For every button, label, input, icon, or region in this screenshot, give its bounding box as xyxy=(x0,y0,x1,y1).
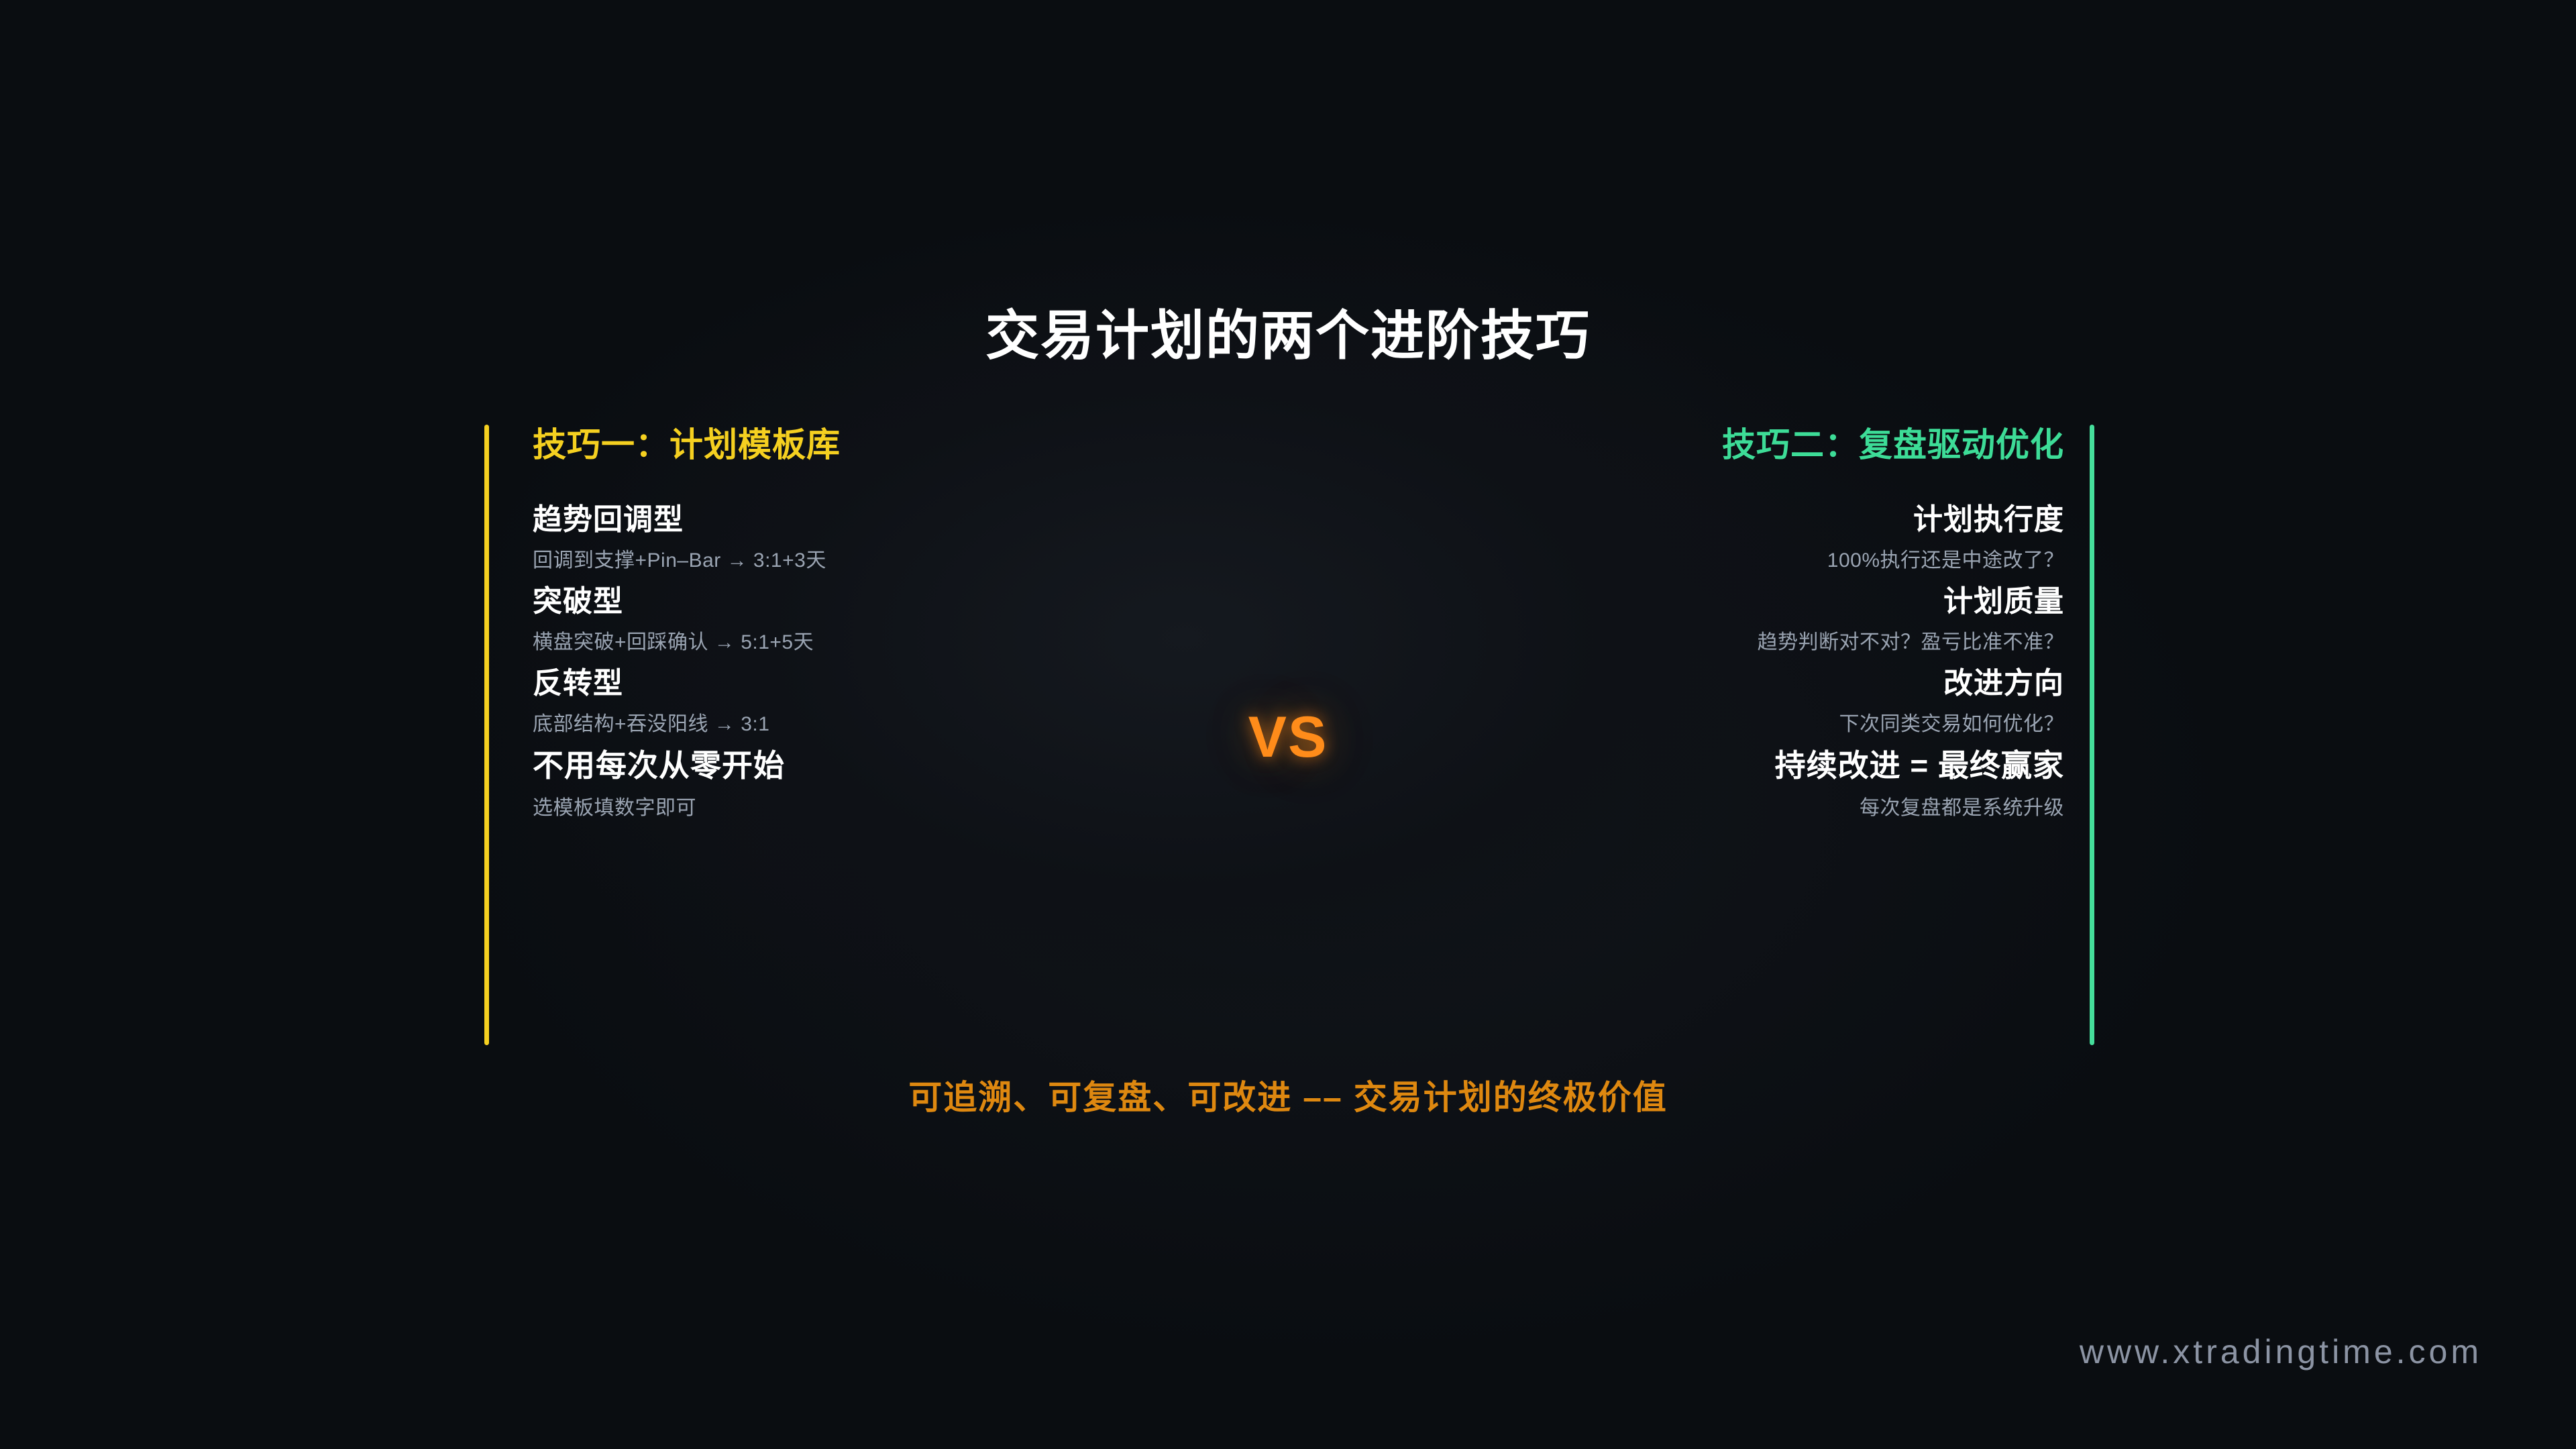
left-column-header: 技巧一：计划模板库 xyxy=(533,425,1257,466)
item-title: 改进方向 xyxy=(1316,665,2064,702)
list-item: 计划质量 趋势判断对不对？盈亏比准不准？ xyxy=(1316,583,2064,665)
item-subtitle: 100%执行还是中途改了？ xyxy=(1316,547,2064,574)
list-item: 突破型 横盘突破+回踩确认 → 5:1+5天 xyxy=(533,583,1257,665)
slide-canvas: 交易计划的两个进阶技巧 技巧一：计划模板库 趋势回调型 回调到支撑+Pin–Ba… xyxy=(0,0,2576,1449)
watermark-url: www.xtradingtime.com xyxy=(2080,1332,2482,1371)
item-subtitle: 横盘突破+回踩确认 → 5:1+5天 xyxy=(533,629,1257,655)
item-title: 趋势回调型 xyxy=(533,501,1257,538)
page-title: 交易计划的两个进阶技巧 xyxy=(0,305,2576,367)
list-item: 计划执行度 100%执行还是中途改了？ xyxy=(1316,501,2064,583)
right-column-header: 技巧二：复盘驱动优化 xyxy=(1316,425,2064,466)
item-subtitle: 选模板填数字即可 xyxy=(533,795,1257,821)
item-title: 计划质量 xyxy=(1316,583,2064,620)
right-column-items: 计划执行度 100%执行还是中途改了？ 计划质量 趋势判断对不对？盈亏比准不准？… xyxy=(1316,501,2064,828)
bottom-tagline: 可追溯、可复盘、可改进 –– 交易计划的终极价值 xyxy=(0,1071,2576,1119)
item-subtitle: 趋势判断对不对？盈亏比准不准？ xyxy=(1316,629,2064,655)
vs-badge: VS xyxy=(0,704,2576,771)
item-subtitle: 回调到支撑+Pin–Bar → 3:1+3天 xyxy=(533,547,1257,574)
list-item: 趋势回调型 回调到支撑+Pin–Bar → 3:1+3天 xyxy=(533,501,1257,583)
left-column-items: 趋势回调型 回调到支撑+Pin–Bar → 3:1+3天 突破型 横盘突破+回踩… xyxy=(533,501,1257,828)
item-subtitle: 每次复盘都是系统升级 xyxy=(1316,795,2064,821)
item-title: 计划执行度 xyxy=(1316,501,2064,538)
item-title: 突破型 xyxy=(533,583,1257,620)
item-title: 反转型 xyxy=(533,665,1257,702)
